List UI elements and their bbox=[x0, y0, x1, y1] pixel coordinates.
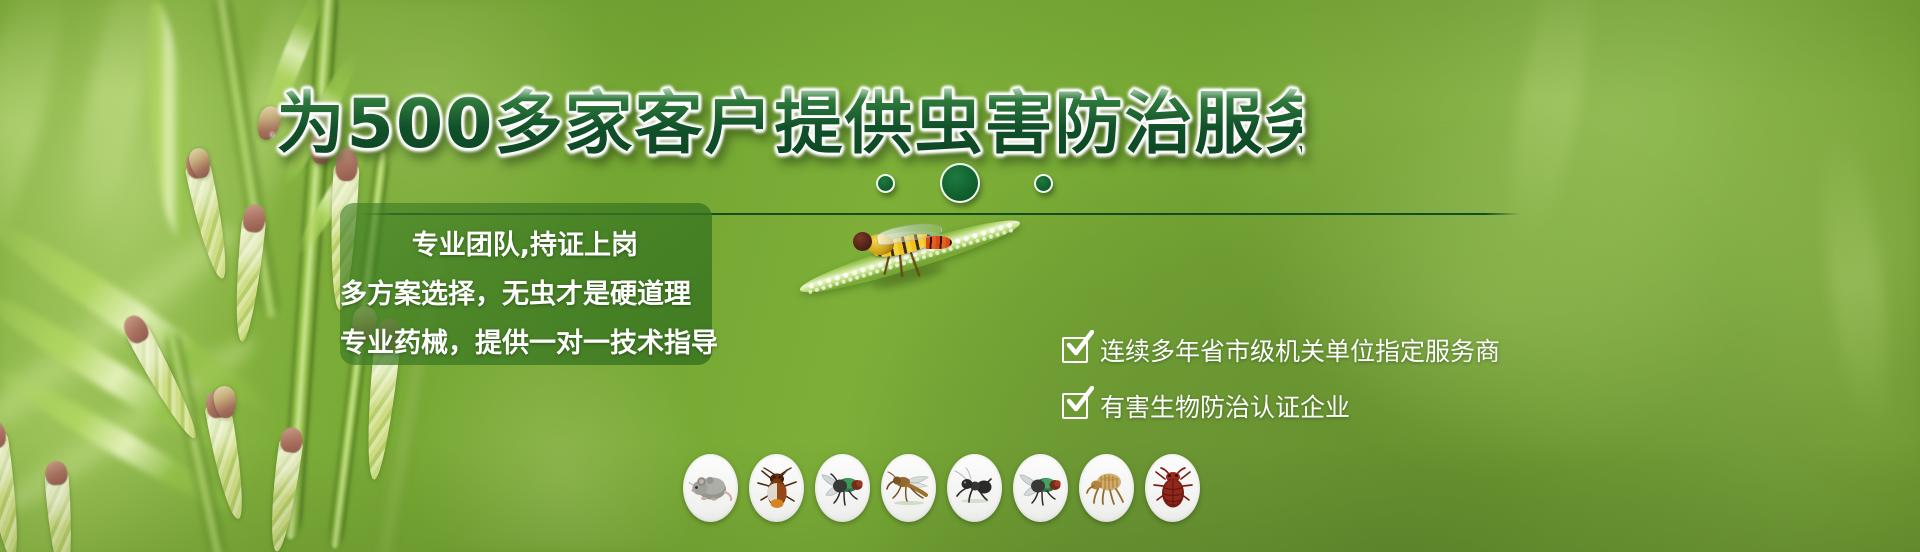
fly-icon[interactable] bbox=[815, 454, 870, 522]
plant-catkin bbox=[0, 429, 25, 552]
hoverfly-icon bbox=[852, 217, 962, 271]
catkin-tip bbox=[242, 203, 266, 233]
mosquito-icon[interactable] bbox=[881, 454, 936, 522]
feature-line-3: 专业药械，提供一对一技术指导 bbox=[340, 321, 694, 360]
hoverfly-on-blade bbox=[800, 215, 1040, 345]
credentials-checklist: 连续多年省市级机关单位指定服务商 有害生物防治认证企业 bbox=[1062, 332, 1542, 444]
plant-frond bbox=[138, 0, 199, 241]
mouse-icon[interactable] bbox=[683, 454, 738, 522]
dot-small-right bbox=[1034, 174, 1053, 193]
fly-head bbox=[853, 232, 872, 251]
feature-line-2: 多方案选择，无虫才是硬道理 bbox=[340, 272, 694, 311]
page-title: 已为500多家客户提供虫害防治服务! bbox=[272, 74, 1302, 160]
plant-catkin bbox=[184, 159, 234, 282]
ant-icon[interactable] bbox=[947, 454, 1002, 522]
dot-small-left bbox=[876, 174, 895, 193]
promo-banner: 已为500多家客户提供虫害防治服务! 专业团队,持证上岗 多方案选择，无虫才是硬… bbox=[0, 0, 1920, 552]
checklist-text: 有害生物防治认证企业 bbox=[1100, 388, 1350, 424]
cockroach-icon[interactable] bbox=[749, 454, 804, 522]
checklist-text: 连续多年省市级机关单位指定服务商 bbox=[1100, 332, 1500, 368]
checkbox-checked-icon bbox=[1062, 337, 1088, 363]
pest-icon-row bbox=[683, 454, 1200, 522]
checkbox-checked-icon bbox=[1062, 393, 1088, 419]
bedbug-icon[interactable] bbox=[1145, 454, 1200, 522]
list-item: 有害生物防治认证企业 bbox=[1062, 388, 1542, 424]
plant-catkin bbox=[44, 469, 76, 552]
decorative-dots bbox=[866, 160, 1066, 210]
blowfly-icon[interactable] bbox=[1013, 454, 1068, 522]
catkin-tip bbox=[45, 461, 68, 487]
flea-icon[interactable] bbox=[1079, 454, 1134, 522]
fly-tail bbox=[926, 236, 952, 249]
dot-large-center bbox=[940, 163, 980, 203]
list-item: 连续多年省市级机关单位指定服务商 bbox=[1062, 332, 1542, 368]
feature-highlight-box: 专业团队,持证上岗 多方案选择，无虫才是硬道理 专业药械，提供一对一技术指导 bbox=[340, 203, 712, 365]
feature-line-1: 专业团队,持证上岗 bbox=[340, 223, 694, 262]
catkin-tip bbox=[0, 419, 8, 450]
